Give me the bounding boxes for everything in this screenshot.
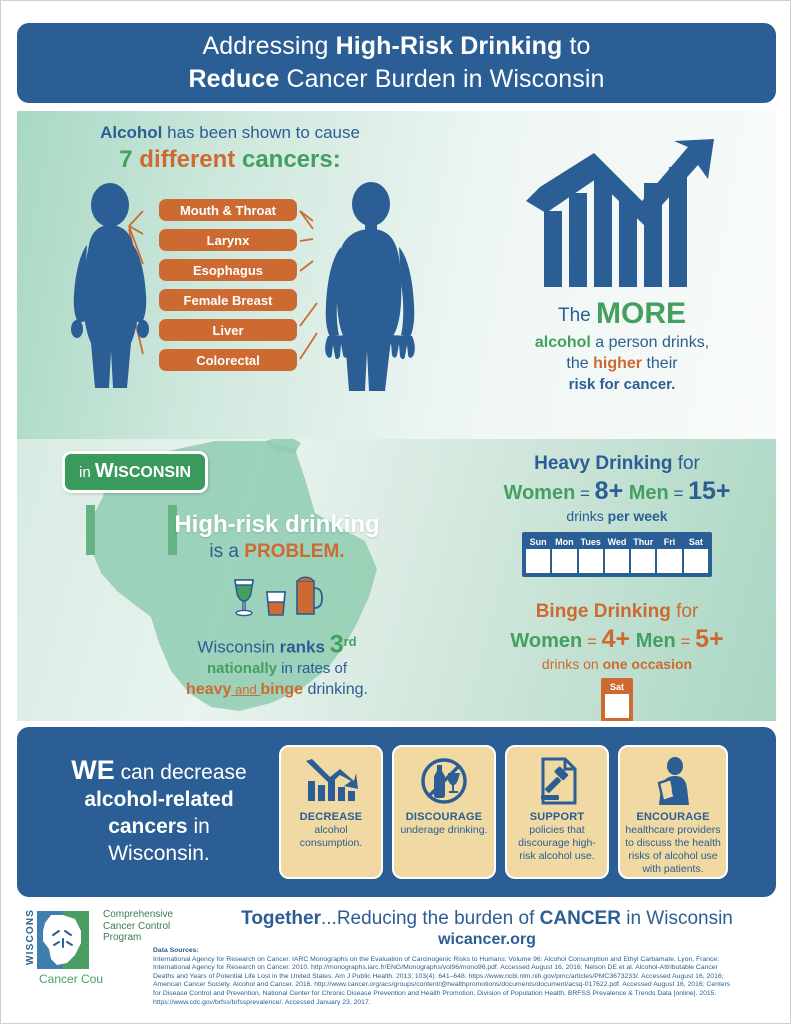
poster-title-banner: Addressing High-Risk Drinking to Reduce … <box>17 23 776 103</box>
calendar-day-thur: Thur <box>630 535 656 548</box>
together-word: Together <box>241 908 321 929</box>
heavy-drinking-title: Heavy Drinking for <box>457 453 776 475</box>
alcohol-word: Alcohol <box>100 123 162 142</box>
cancer-label-mouth-throat[interactable]: Mouth & Throat <box>159 199 297 221</box>
heavy-for-word: for <box>672 453 699 474</box>
in-wisconsin-sign: in WISCONSIN <box>62 451 208 493</box>
more-line2-rest: a person drinks, <box>591 334 709 351</box>
title-line2-a: Reduce <box>189 65 280 93</box>
calendar-cell <box>578 548 604 574</box>
binge-word: binge <box>260 681 303 698</box>
heavy-drinking-subtext: drinks per week <box>457 508 776 524</box>
sign-w-letter: W <box>95 460 114 482</box>
declining-bar-chart-icon <box>304 755 358 807</box>
heavy-drinking-values: Women = 8+ Men = 15+ <box>457 477 776 506</box>
heavy-men-value: 15+ <box>688 477 730 505</box>
more-line-3: the higher their <box>487 355 757 373</box>
title-line-2: Reduce Cancer Burden in Wisconsin <box>189 63 605 96</box>
title-line1-c: to <box>562 32 590 60</box>
logo-program-line1: Comprehensive <box>103 909 173 921</box>
cancers-section: Alcohol has been shown to cause 7 differ… <box>17 111 776 439</box>
calendar-cell <box>604 548 630 574</box>
problem-word: PROBLEM. <box>244 541 344 562</box>
we-word: WE <box>71 755 115 785</box>
title-line2-b: Cancer Burden in Wisconsin <box>279 65 604 93</box>
cancer-label-larynx[interactable]: Larynx <box>159 229 297 251</box>
sign-text: in WISCONSIN <box>79 461 191 482</box>
heavy-men-label: Men <box>629 482 669 504</box>
calendar-cell <box>656 548 682 574</box>
drinks-word-heavy: drinks <box>566 508 607 524</box>
more-word: MORE <box>596 297 686 330</box>
cancer-label-liver[interactable]: Liver <box>159 319 297 341</box>
logo-program-words: Comprehensive Cancer Control Program <box>103 909 173 944</box>
data-source-line: Deaths and Years of Potential Life Lost … <box>153 973 783 982</box>
more-alcohol-word: alcohol <box>535 334 591 351</box>
data-source-line: for Disease Control and Prevention, Nati… <box>153 990 783 999</box>
binge-drinking-subtext: drinks on one occasion <box>457 656 776 672</box>
cancers-heading-line1: Alcohol has been shown to cause <box>65 123 395 143</box>
signpost-left-post <box>86 505 95 555</box>
binge-drinking-values: Women = 4+ Men = 5+ <box>457 625 776 654</box>
more-the2: the <box>566 355 593 372</box>
binge-women-value: 4+ <box>602 625 631 653</box>
single-day-calendar: Sat <box>601 678 633 721</box>
is-a-text: is a <box>209 541 244 562</box>
together-tagline: Together...Reducing the burden of CANCER… <box>197 908 777 949</box>
calendar-day-fri: Fri <box>656 535 682 548</box>
reducing-burden-text: ...Reducing the burden of <box>321 908 540 929</box>
binge-women-label: Women <box>510 630 582 652</box>
binge-men-value: 5+ <box>695 625 724 653</box>
data-source-line: International Agency for Research on Can… <box>153 964 783 973</box>
heavy-drinking-label: Heavy Drinking <box>534 453 672 474</box>
more-alcohol-block: The MORE alcohol a person drinks, the hi… <box>487 131 757 393</box>
data-source-line: American Cancer Society. Alcohol and Can… <box>153 981 783 990</box>
calendar-day-tues: Tues <box>578 535 604 548</box>
we-line-1: WE can decrease <box>39 757 279 786</box>
calendar-day-mon: Mon <box>551 535 577 548</box>
one-occasion-text: one occasion <box>603 656 692 672</box>
ranks-word: ranks <box>280 638 330 657</box>
wisconsin-text-block: High-risk drinking is a PROBLEM. <box>127 511 427 701</box>
drinks-on-word: drinks on <box>542 656 603 672</box>
wisconsin-headline: High-risk drinking <box>127 511 427 539</box>
cancer-count: 7 <box>119 146 139 173</box>
action-card-desc: policies that discourage high-risk alcoh… <box>507 824 607 863</box>
drinking-word: drinking. <box>303 681 368 698</box>
action-cards: DECREASE alcohol consumption. DISCOURAGE <box>279 745 728 879</box>
svg-text:WISCONSIN: WISCONSIN <box>25 909 36 965</box>
cancer-label-esophagus[interactable]: Esophagus <box>159 259 297 281</box>
more-line-1: The MORE <box>487 297 757 331</box>
we-can-decrease-text: WE can decrease alcohol-related cancers … <box>17 757 279 867</box>
sign-in-word: in <box>79 464 95 481</box>
more-the: The <box>558 305 596 326</box>
rank-number: 3 <box>330 631 344 659</box>
wine-glass-icon <box>230 577 258 617</box>
more-higher-word: higher <box>593 355 642 372</box>
single-calendar-cell <box>604 693 630 719</box>
calendar-cell <box>551 548 577 574</box>
wisconsin-cancer-council-logo: WISCONSIN Cancer Council <box>23 909 103 992</box>
data-sources-block: Data Sources: International Agency for R… <box>153 947 783 1007</box>
per-week-text: per week <box>608 508 668 524</box>
gavel-document-icon <box>535 755 579 807</box>
action-card-title: ENCOURAGE <box>636 811 709 823</box>
more-their: their <box>642 355 678 372</box>
beer-mug-icon <box>294 575 324 617</box>
calendar-cells-row <box>525 548 709 574</box>
wisconsin-rank-line1: Wisconsin ranks 3rd <box>127 631 427 658</box>
svg-text:Cancer Council: Cancer Council <box>39 972 103 986</box>
poster-footer: WISCONSIN Cancer Council Comprehensive C… <box>17 901 776 1019</box>
more-line-4: risk for cancer. <box>487 376 757 393</box>
action-card-discourage[interactable]: DISCOURAGE underage drinking. <box>392 745 496 879</box>
action-section: WE can decrease alcohol-related cancers … <box>17 727 776 897</box>
different-word: different <box>139 146 242 173</box>
wisconsin-rank-line2: nationally in rates of <box>127 658 427 679</box>
action-card-title: DECREASE <box>300 811 363 823</box>
data-sources-heading: Data Sources: <box>153 947 783 956</box>
cancer-word-footer: CANCER <box>540 908 621 929</box>
heavy-men-eq: = <box>669 484 688 503</box>
in-rates-of-text: in rates of <box>277 660 347 677</box>
we-line-2: alcohol-related <box>39 786 279 813</box>
heavy-word: heavy <box>186 681 231 698</box>
drink-icons-row <box>127 575 427 617</box>
week-calendar: Sun Mon Tues Wed Thur Fri Sat <box>522 532 712 577</box>
logo-program-line2: Cancer Control <box>103 921 173 933</box>
more-line-2: alcohol a person drinks, <box>487 334 757 352</box>
calendar-cell <box>683 548 709 574</box>
action-card-desc: underage drinking. <box>396 824 493 837</box>
cancers-heading: Alcohol has been shown to cause 7 differ… <box>65 123 395 174</box>
action-card-title: DISCOURAGE <box>406 811 483 823</box>
calendar-header-row: Sun Mon Tues Wed Thur Fri Sat <box>525 535 709 548</box>
male-body-silhouette-icon <box>317 181 425 391</box>
can-decrease-text: can decrease <box>115 761 247 784</box>
and-word: and <box>231 682 260 697</box>
single-calendar-day-sat: Sat <box>604 681 630 693</box>
action-card-decrease[interactable]: DECREASE alcohol consumption. <box>279 745 383 879</box>
female-body-silhouette-icon <box>65 183 160 388</box>
title-line-1: Addressing High-Risk Drinking to <box>202 30 590 63</box>
cancers-word: cancers: <box>242 146 341 173</box>
cancer-label-female-breast[interactable]: Female Breast <box>159 289 297 311</box>
wisconsin-rank-line3: heavy and binge drinking. <box>127 679 427 701</box>
in-wisconsin-text: in Wisconsin <box>621 908 733 929</box>
cancer-label-list: Mouth & Throat Larynx Esophagus Female B… <box>159 199 297 379</box>
heavy-women-label: Women <box>503 482 575 504</box>
action-card-title: SUPPORT <box>530 811 585 823</box>
cancers-word-we: cancers <box>108 815 187 838</box>
calendar-day-wed: Wed <box>604 535 630 548</box>
logo-program-line3: Program <box>103 932 173 944</box>
rocks-glass-icon <box>264 589 288 617</box>
infographic-poster: Addressing High-Risk Drinking to Reduce … <box>0 0 791 1024</box>
in-word-we: in <box>188 815 210 838</box>
we-line-4: Wisconsin. <box>39 840 279 867</box>
binge-drinking-title: Binge Drinking for <box>457 601 776 623</box>
wisconsin-word: Wisconsin <box>197 638 279 657</box>
binge-women-eq: = <box>582 632 601 651</box>
wisconsin-subheadline: is a PROBLEM. <box>127 541 427 563</box>
rank-suffix: rd <box>344 634 357 649</box>
healthcare-provider-icon <box>651 755 695 807</box>
title-line1-a: Addressing <box>202 32 335 60</box>
together-line: Together...Reducing the burden of CANCER… <box>197 908 777 930</box>
sign-isconsin-letters: ISCONSIN <box>114 464 191 481</box>
wisconsin-section: in WISCONSIN High-risk drinking is a PRO… <box>17 439 776 721</box>
binge-men-eq: = <box>676 632 695 651</box>
binge-drinking-label: Binge Drinking <box>536 601 671 622</box>
data-source-line: https://www.cdc.gov/brfss/brfssprevalenc… <box>153 999 783 1008</box>
action-card-desc: healthcare providers to discuss the heal… <box>620 824 726 876</box>
heavy-women-value: 8+ <box>595 477 624 505</box>
data-source-line: International Agency for Research on Can… <box>153 956 783 965</box>
rising-bar-chart-with-arrow-icon <box>522 131 722 291</box>
action-card-encourage[interactable]: ENCOURAGE healthcare providers to discus… <box>618 745 728 879</box>
calendar-day-sat: Sat <box>683 535 709 548</box>
more-text-block: The MORE alcohol a person drinks, the hi… <box>487 297 757 393</box>
binge-for-word: for <box>671 601 698 622</box>
heavy-women-eq: = <box>575 484 594 503</box>
no-alcohol-prohibition-icon <box>419 755 469 807</box>
drinking-definitions-block: Heavy Drinking for Women = 8+ Men = 15+ … <box>457 453 776 721</box>
title-line1-b: High-Risk Drinking <box>336 32 563 60</box>
calendar-cell <box>525 548 551 574</box>
cancer-label-colorectal[interactable]: Colorectal <box>159 349 297 371</box>
calendar-day-sun: Sun <box>525 535 551 548</box>
we-line-3: cancers in <box>39 813 279 840</box>
action-card-support[interactable]: SUPPORT policies that discourage high-ri… <box>505 745 609 879</box>
nationally-word: nationally <box>207 660 277 677</box>
calendar-cell <box>630 548 656 574</box>
binge-men-label: Men <box>636 630 676 652</box>
action-card-desc: alcohol consumption. <box>281 824 381 850</box>
cancers-heading-line2: 7 different cancers: <box>65 146 395 174</box>
wisconsin-signpost: in WISCONSIN <box>62 451 208 493</box>
heading-rest: has been shown to cause <box>162 123 360 142</box>
